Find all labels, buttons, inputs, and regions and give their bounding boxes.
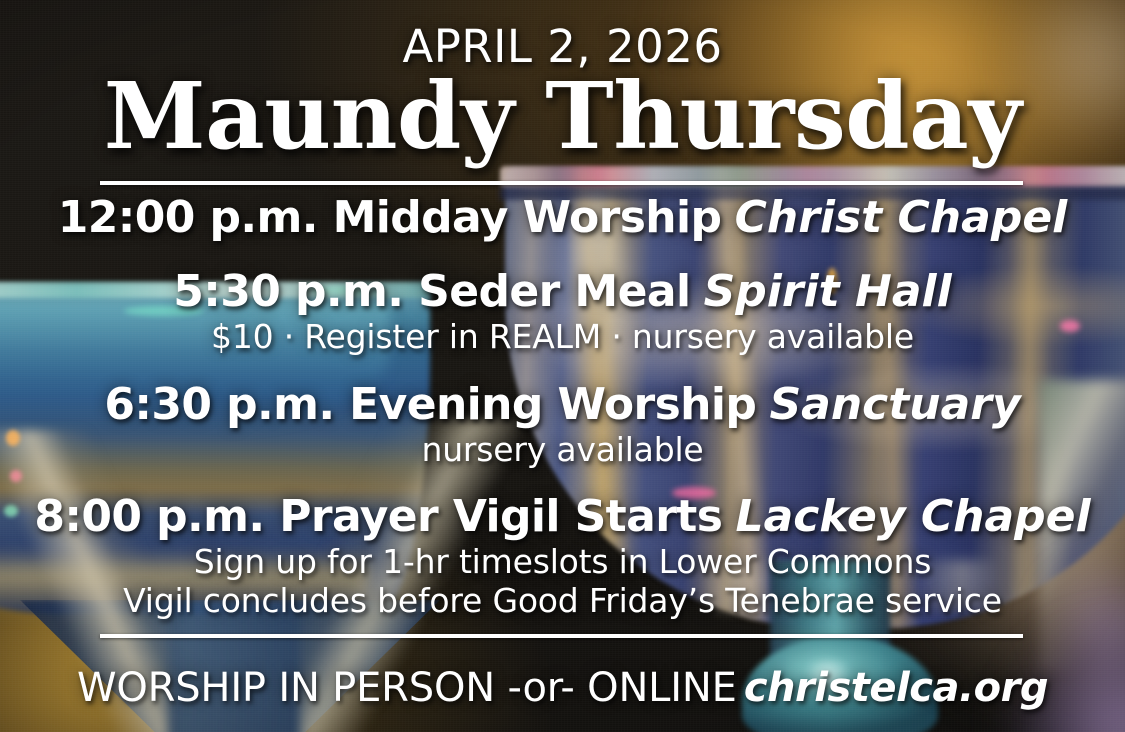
schedule-row-seder-meal: 5:30 p.m. Seder MealSpirit Hall $10 · Re…: [0, 270, 1125, 353]
service-headline: 5:30 p.m. Seder MealSpirit Hall: [0, 270, 1125, 314]
service-headline: 6:30 p.m. Evening WorshipSanctuary: [0, 383, 1125, 427]
service-location: Sanctuary: [769, 379, 1020, 430]
poster-text-layer: APRIL 2, 2026 Maundy Thursday 12:00 p.m.…: [0, 0, 1125, 732]
schedule-row-prayer-vigil: 8:00 p.m. Prayer Vigil StartsLackey Chap…: [0, 495, 1125, 617]
service-location: Spirit Hall: [704, 266, 952, 317]
service-time-and-name: 8:00 p.m. Prayer Vigil Starts: [34, 491, 722, 542]
service-note: nursery available: [0, 433, 1125, 466]
maundy-thursday-poster: APRIL 2, 2026 Maundy Thursday 12:00 p.m.…: [0, 0, 1125, 732]
service-time-and-name: 6:30 p.m. Evening Worship: [104, 379, 756, 430]
service-time-and-name: 5:30 p.m. Seder Meal: [173, 266, 690, 317]
divider-top: [100, 181, 1023, 185]
service-location: Christ Chapel: [735, 192, 1068, 243]
service-location: Lackey Chapel: [736, 491, 1091, 542]
service-note-secondary: Vigil concludes before Good Friday’s Ten…: [0, 584, 1125, 617]
service-time-and-name: 12:00 p.m. Midday Worship: [58, 192, 722, 243]
service-headline: 8:00 p.m. Prayer Vigil StartsLackey Chap…: [0, 495, 1125, 539]
schedule-row-evening-worship: 6:30 p.m. Evening WorshipSanctuary nurse…: [0, 383, 1125, 466]
service-note: Sign up for 1-hr timeslots in Lower Comm…: [0, 545, 1125, 578]
footer-worship-options: WORSHIP IN PERSON -or- ONLINEchristelca.…: [0, 665, 1125, 711]
page-title: Maundy Thursday: [0, 68, 1125, 165]
divider-bottom: [100, 634, 1023, 638]
schedule-row-midday-worship: 12:00 p.m. Midday WorshipChrist Chapel: [0, 196, 1125, 240]
website-url[interactable]: christelca.org: [744, 665, 1048, 711]
service-headline: 12:00 p.m. Midday WorshipChrist Chapel: [0, 196, 1125, 240]
footer-text: WORSHIP IN PERSON -or- ONLINE: [77, 665, 737, 711]
service-note: $10 · Register in REALM · nursery availa…: [0, 320, 1125, 353]
